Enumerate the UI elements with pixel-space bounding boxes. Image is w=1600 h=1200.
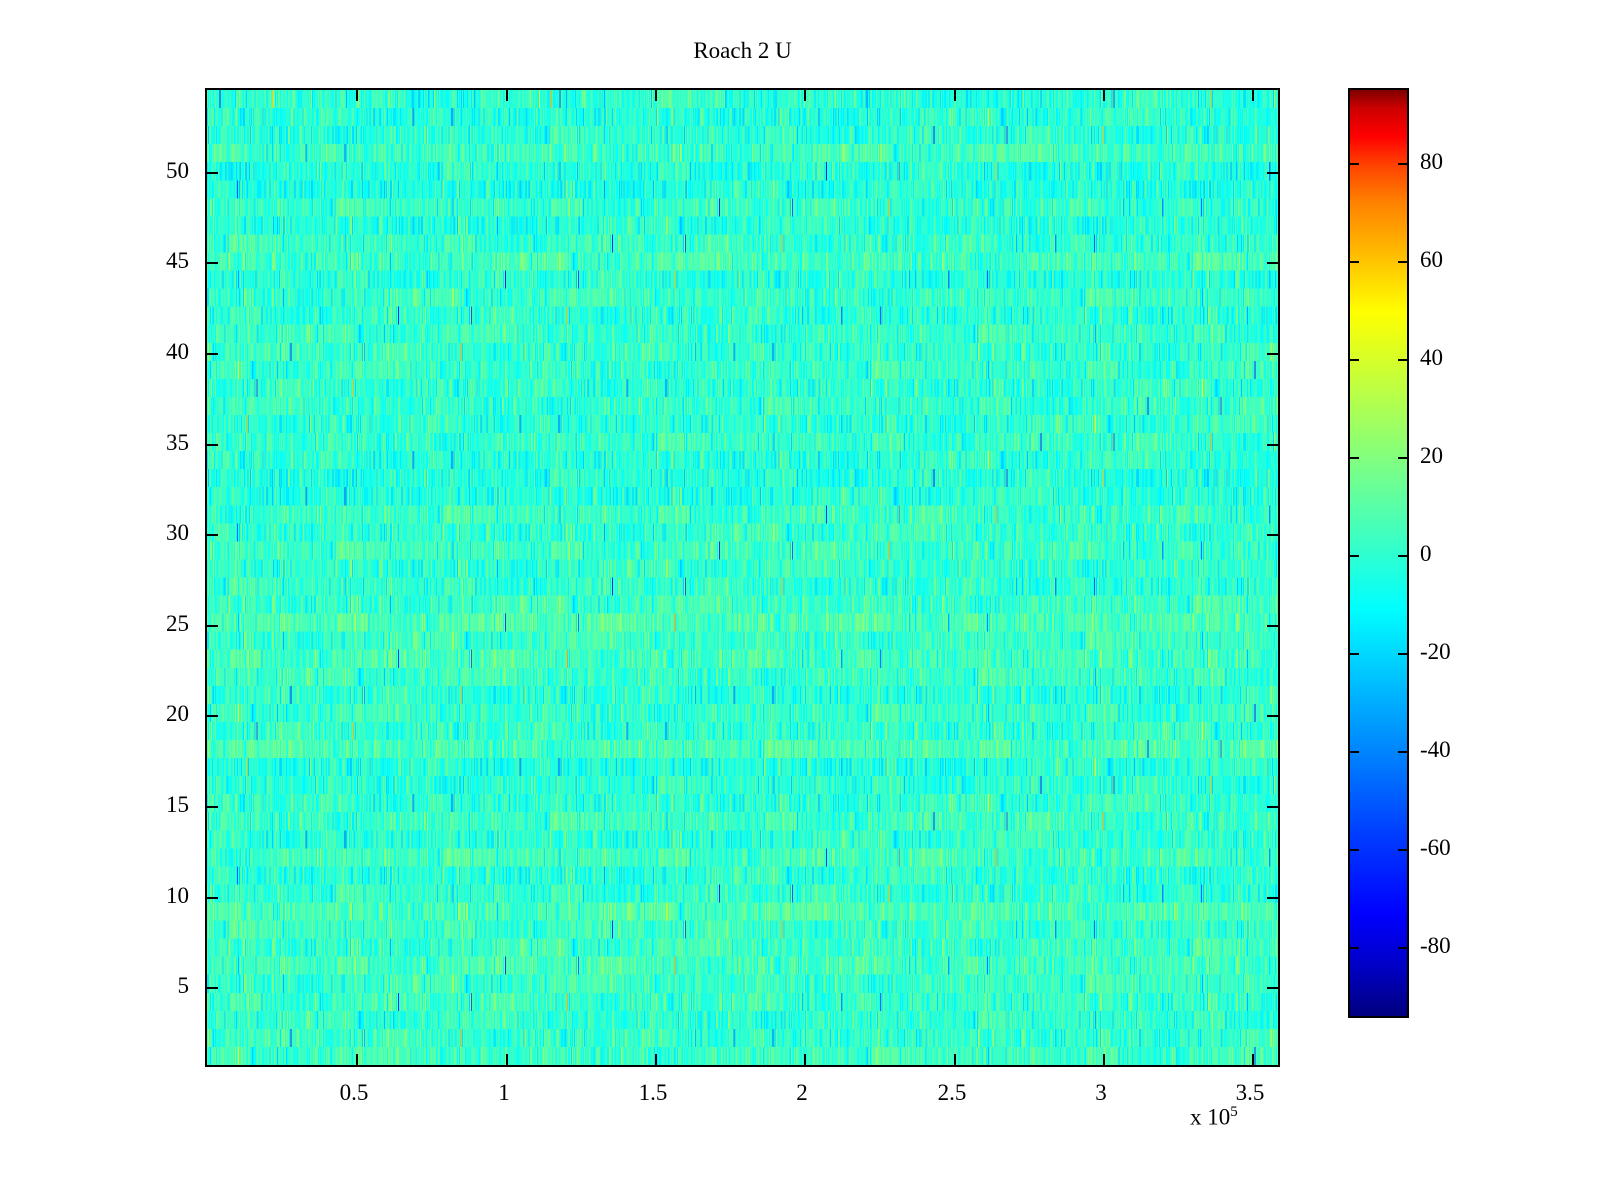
x-tick-label: 0.5 — [304, 1081, 404, 1104]
y-tick-mark — [1267, 534, 1278, 536]
x-tick-mark — [506, 90, 508, 101]
y-tick-mark — [207, 806, 218, 808]
y-tick-mark — [207, 625, 218, 627]
y-tick-mark — [207, 444, 218, 446]
colorbar-tick-mark — [1398, 457, 1407, 459]
colorbar-tick-label: 60 — [1420, 248, 1490, 271]
x-tick-label: 1.5 — [603, 1081, 703, 1104]
colorbar-tick-mark — [1398, 751, 1407, 753]
colorbar-tick-label: 0 — [1420, 542, 1490, 565]
y-tick-mark — [1267, 353, 1278, 355]
x-tick-mark — [954, 90, 956, 101]
y-tick-label: 35 — [129, 431, 189, 454]
y-tick-label: 45 — [129, 249, 189, 272]
x-axis-exponent-label: x 105 — [1190, 1104, 1238, 1131]
y-tick-label: 50 — [129, 159, 189, 182]
colorbar-tick-mark — [1398, 555, 1407, 557]
x-tick-mark — [1103, 90, 1105, 101]
y-tick-label: 5 — [129, 974, 189, 997]
y-tick-mark — [1267, 262, 1278, 264]
colorbar-tick-mark — [1350, 457, 1359, 459]
y-tick-mark — [1267, 172, 1278, 174]
colorbar-tick-label: 80 — [1420, 150, 1490, 173]
colorbar-tick-label: -40 — [1420, 738, 1490, 761]
y-tick-mark — [207, 534, 218, 536]
colorbar-tick-mark — [1350, 555, 1359, 557]
colorbar-tick-label: -80 — [1420, 934, 1490, 957]
heatmap-image — [207, 90, 1278, 1065]
colorbar-tick-mark — [1398, 261, 1407, 263]
x-tick-label: 3 — [1051, 1081, 1151, 1104]
x-tick-label: 1 — [454, 1081, 554, 1104]
colorbar-tick-mark — [1398, 653, 1407, 655]
x-tick-mark — [506, 1054, 508, 1065]
x-tick-mark — [804, 90, 806, 101]
colorbar-tick-label: 20 — [1420, 444, 1490, 467]
colorbar-tick-mark — [1398, 163, 1407, 165]
x-exponent-power: 5 — [1230, 1104, 1238, 1120]
y-tick-mark — [207, 715, 218, 717]
x-tick-mark — [655, 90, 657, 101]
y-tick-mark — [1267, 444, 1278, 446]
colorbar-tick-mark — [1350, 163, 1359, 165]
x-tick-mark — [1103, 1054, 1105, 1065]
y-tick-mark — [1267, 897, 1278, 899]
colorbar-tick-label: -20 — [1420, 640, 1490, 663]
y-tick-mark — [207, 987, 218, 989]
y-tick-label: 10 — [129, 884, 189, 907]
y-tick-label: 25 — [129, 612, 189, 635]
colorbar-tick-mark — [1350, 947, 1359, 949]
x-tick-mark — [655, 1054, 657, 1065]
colorbar-gradient — [1350, 90, 1407, 1016]
colorbar-tick-mark — [1350, 261, 1359, 263]
colorbar-tick-mark — [1350, 359, 1359, 361]
y-tick-label: 30 — [129, 521, 189, 544]
page-title: Roach 2 U — [205, 38, 1280, 64]
y-tick-mark — [1267, 715, 1278, 717]
colorbar-tick-label: 40 — [1420, 346, 1490, 369]
x-tick-mark — [954, 1054, 956, 1065]
y-tick-mark — [207, 172, 218, 174]
x-tick-mark — [356, 90, 358, 101]
colorbar-tick-mark — [1350, 849, 1359, 851]
y-tick-label: 40 — [129, 340, 189, 363]
y-tick-mark — [1267, 625, 1278, 627]
colorbar-tick-mark — [1350, 751, 1359, 753]
colorbar-tick-label: -60 — [1420, 836, 1490, 859]
heatmap-axes[interactable] — [205, 88, 1280, 1067]
y-tick-label: 20 — [129, 702, 189, 725]
colorbar-tick-mark — [1398, 359, 1407, 361]
y-tick-mark — [1267, 806, 1278, 808]
y-tick-mark — [207, 262, 218, 264]
colorbar-tick-mark — [1398, 947, 1407, 949]
x-tick-mark — [804, 1054, 806, 1065]
figure-canvas: Roach 2 U 5101520253035404550 0.511.522.… — [0, 0, 1600, 1200]
x-tick-mark — [1252, 1054, 1254, 1065]
x-tick-mark — [356, 1054, 358, 1065]
x-tick-label: 2.5 — [902, 1081, 1002, 1104]
colorbar[interactable] — [1348, 88, 1409, 1018]
colorbar-tick-mark — [1398, 849, 1407, 851]
y-tick-mark — [207, 897, 218, 899]
x-tick-label: 3.5 — [1200, 1081, 1300, 1104]
x-tick-mark — [1252, 90, 1254, 101]
x-exponent-base: x 10 — [1190, 1105, 1230, 1130]
y-tick-mark — [1267, 987, 1278, 989]
colorbar-tick-mark — [1350, 653, 1359, 655]
x-tick-label: 2 — [752, 1081, 852, 1104]
y-tick-label: 15 — [129, 793, 189, 816]
y-tick-mark — [207, 353, 218, 355]
